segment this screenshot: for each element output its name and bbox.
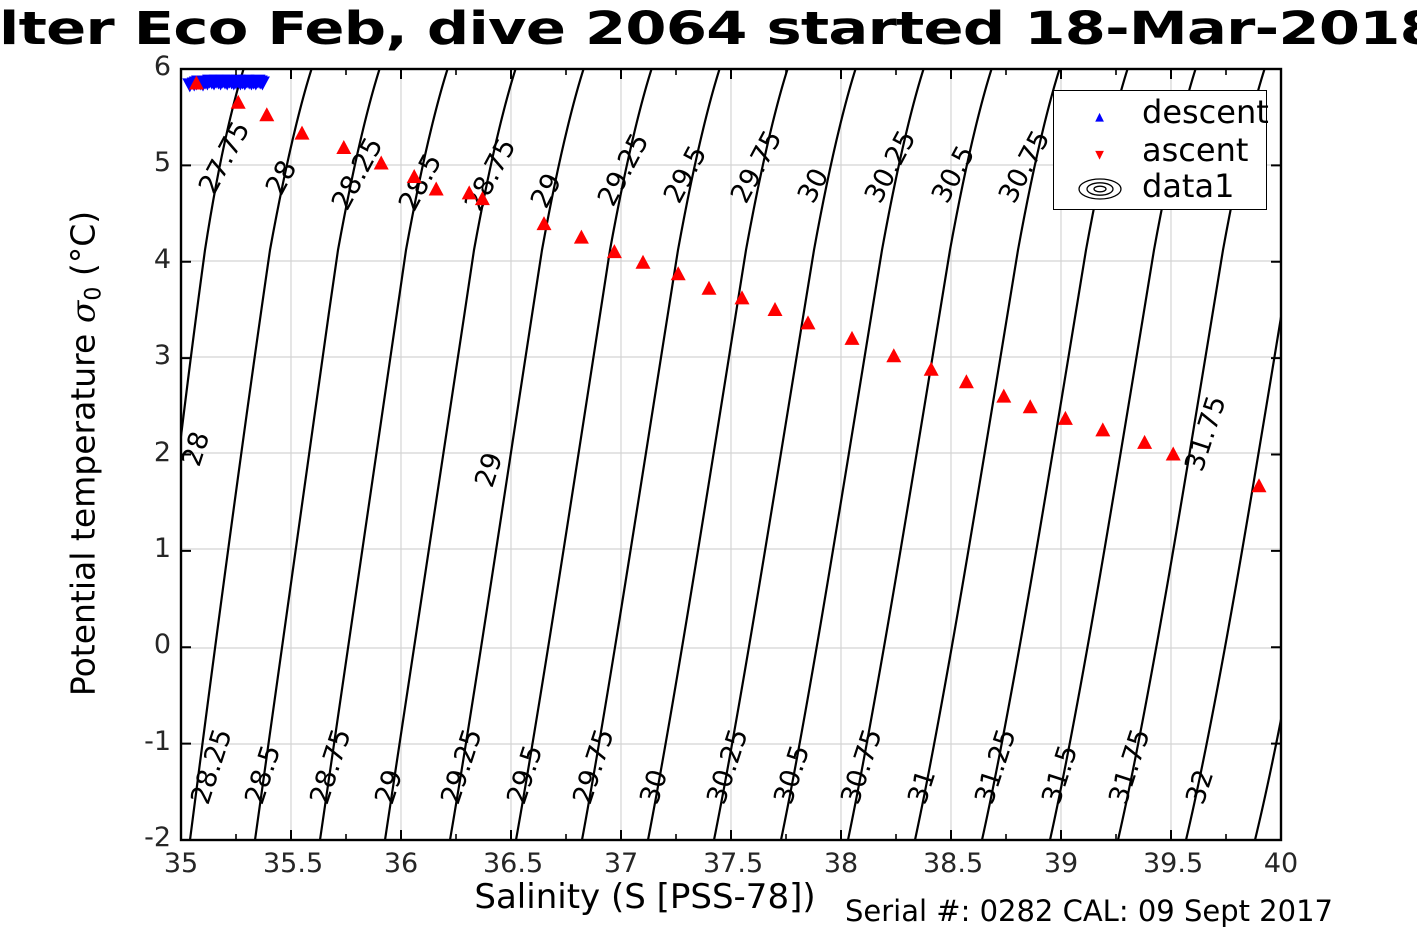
y-tick-label: 4: [119, 244, 171, 275]
legend-label-descent: descent: [1142, 93, 1269, 131]
x-tick-label: 39: [1033, 848, 1089, 879]
x-tick-label: 40: [1253, 848, 1309, 879]
legend-label-data1: data1: [1142, 167, 1234, 205]
y-tick-label: -1: [119, 726, 171, 757]
legend-item-descent[interactable]: descent: [1054, 95, 1268, 135]
x-tick-label: 37: [593, 848, 649, 879]
x-tick-label: 36: [373, 848, 429, 879]
y-tick-label: 1: [119, 533, 171, 564]
x-tick-label: 39.5: [1143, 848, 1199, 879]
up-triangle-icon: [1076, 141, 1124, 165]
y-axis-title: Potential temperature σ0 (°C): [64, 154, 107, 754]
y-axis-title-suffix: (°C): [64, 211, 103, 287]
y-axis-title-prefix: Potential temperature: [64, 323, 103, 696]
x-tick-label: 38: [813, 848, 869, 879]
down-triangle-icon: [1076, 103, 1124, 127]
y-tick-label: 6: [119, 51, 171, 82]
legend-label-ascent: ascent: [1142, 131, 1248, 169]
x-tick-label: 35.5: [263, 848, 319, 879]
legend-item-data1[interactable]: data1: [1054, 169, 1268, 209]
x-tick-label: 38.5: [923, 848, 979, 879]
contour-ellipses-icon: [1076, 177, 1124, 201]
y-tick-label: -2: [119, 822, 171, 853]
serial-note: Serial #: 0282 CAL: 09 Sept 2017: [845, 894, 1333, 928]
sigma-subscript: 0: [82, 287, 107, 301]
y-tick-label: 0: [119, 629, 171, 660]
sigma-symbol: σ: [64, 301, 103, 324]
y-tick-label: 3: [119, 340, 171, 371]
x-tick-label: 37.5: [703, 848, 759, 879]
x-tick-label: 36.5: [483, 848, 539, 879]
y-tick-label: 5: [119, 147, 171, 178]
y-tick-label: 2: [119, 437, 171, 468]
legend[interactable]: descent ascent data1: [1053, 90, 1267, 210]
